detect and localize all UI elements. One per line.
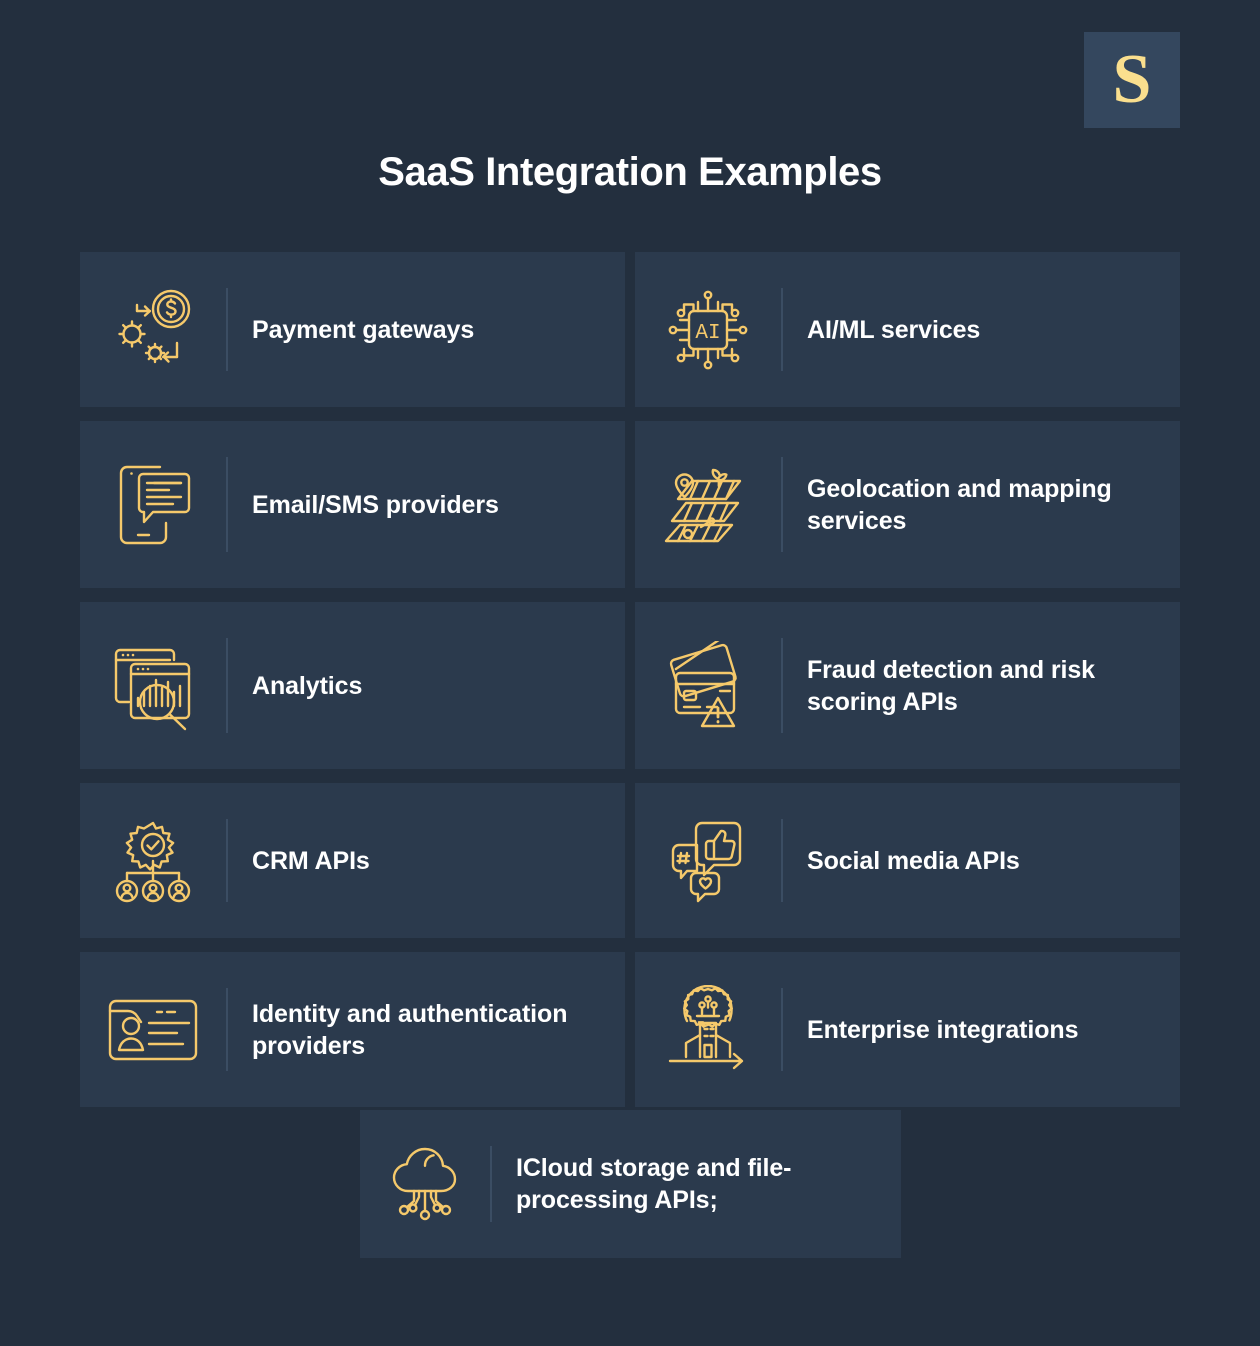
- chart-magnifier-icon: [80, 640, 226, 732]
- card-enterprise-integrations[interactable]: Enterprise integrations: [635, 952, 1180, 1107]
- card-label: Fraud detection and risk scoring APIs: [783, 654, 1180, 718]
- card-identity-auth[interactable]: Identity and authentication providers: [80, 952, 625, 1107]
- card-ai-ml-services[interactable]: AI AI/ML services: [635, 252, 1180, 407]
- card-label: Geolocation and mapping services: [783, 473, 1180, 537]
- card-crm-apis[interactable]: CRM APIs: [80, 783, 625, 938]
- svg-text:AI: AI: [695, 322, 720, 345]
- card-label: Email/SMS providers: [228, 489, 625, 521]
- phone-message-icon: [80, 459, 226, 551]
- brand-logo-letter: S: [1113, 45, 1152, 115]
- credit-card-warning-icon: [635, 641, 781, 731]
- card-label: Analytics: [228, 670, 625, 702]
- speech-bubbles-icon: [635, 815, 781, 907]
- card-fraud-detection[interactable]: Fraud detection and risk scoring APIs: [635, 602, 1180, 769]
- card-label: CRM APIs: [228, 845, 625, 877]
- card-label: Social media APIs: [783, 845, 1180, 877]
- card-email-sms-providers[interactable]: Email/SMS providers: [80, 421, 625, 588]
- card-label: AI/ML services: [783, 314, 1180, 346]
- cloud-nodes-icon: [360, 1143, 490, 1225]
- card-analytics[interactable]: Analytics: [80, 602, 625, 769]
- id-card-icon: [80, 995, 226, 1065]
- brand-logo: S: [1084, 32, 1180, 128]
- card-icloud-storage[interactable]: ICloud storage and file-processing APIs;: [360, 1110, 901, 1258]
- card-geolocation-mapping[interactable]: Geolocation and mapping services: [635, 421, 1180, 588]
- ai-chip-icon: AI: [635, 287, 781, 373]
- gear-check-users-icon: [80, 817, 226, 905]
- card-label: Identity and authentication providers: [228, 998, 625, 1062]
- card-payment-gateways[interactable]: Payment gateways: [80, 252, 625, 407]
- card-label: Enterprise integrations: [783, 1014, 1180, 1046]
- integration-card-grid: Payment gateways AI: [80, 252, 1180, 1107]
- building-gear-arrow-icon: [635, 985, 781, 1075]
- card-social-media-apis[interactable]: Social media APIs: [635, 783, 1180, 938]
- card-label: Payment gateways: [228, 314, 625, 346]
- layered-map-pin-icon: [635, 463, 781, 547]
- footer-card-wrapper: ICloud storage and file-processing APIs;: [360, 1110, 901, 1258]
- card-label: ICloud storage and file-processing APIs;: [492, 1152, 901, 1216]
- payment-gears-coin-icon: [80, 287, 226, 373]
- page-title: SaaS Integration Examples: [0, 150, 1260, 195]
